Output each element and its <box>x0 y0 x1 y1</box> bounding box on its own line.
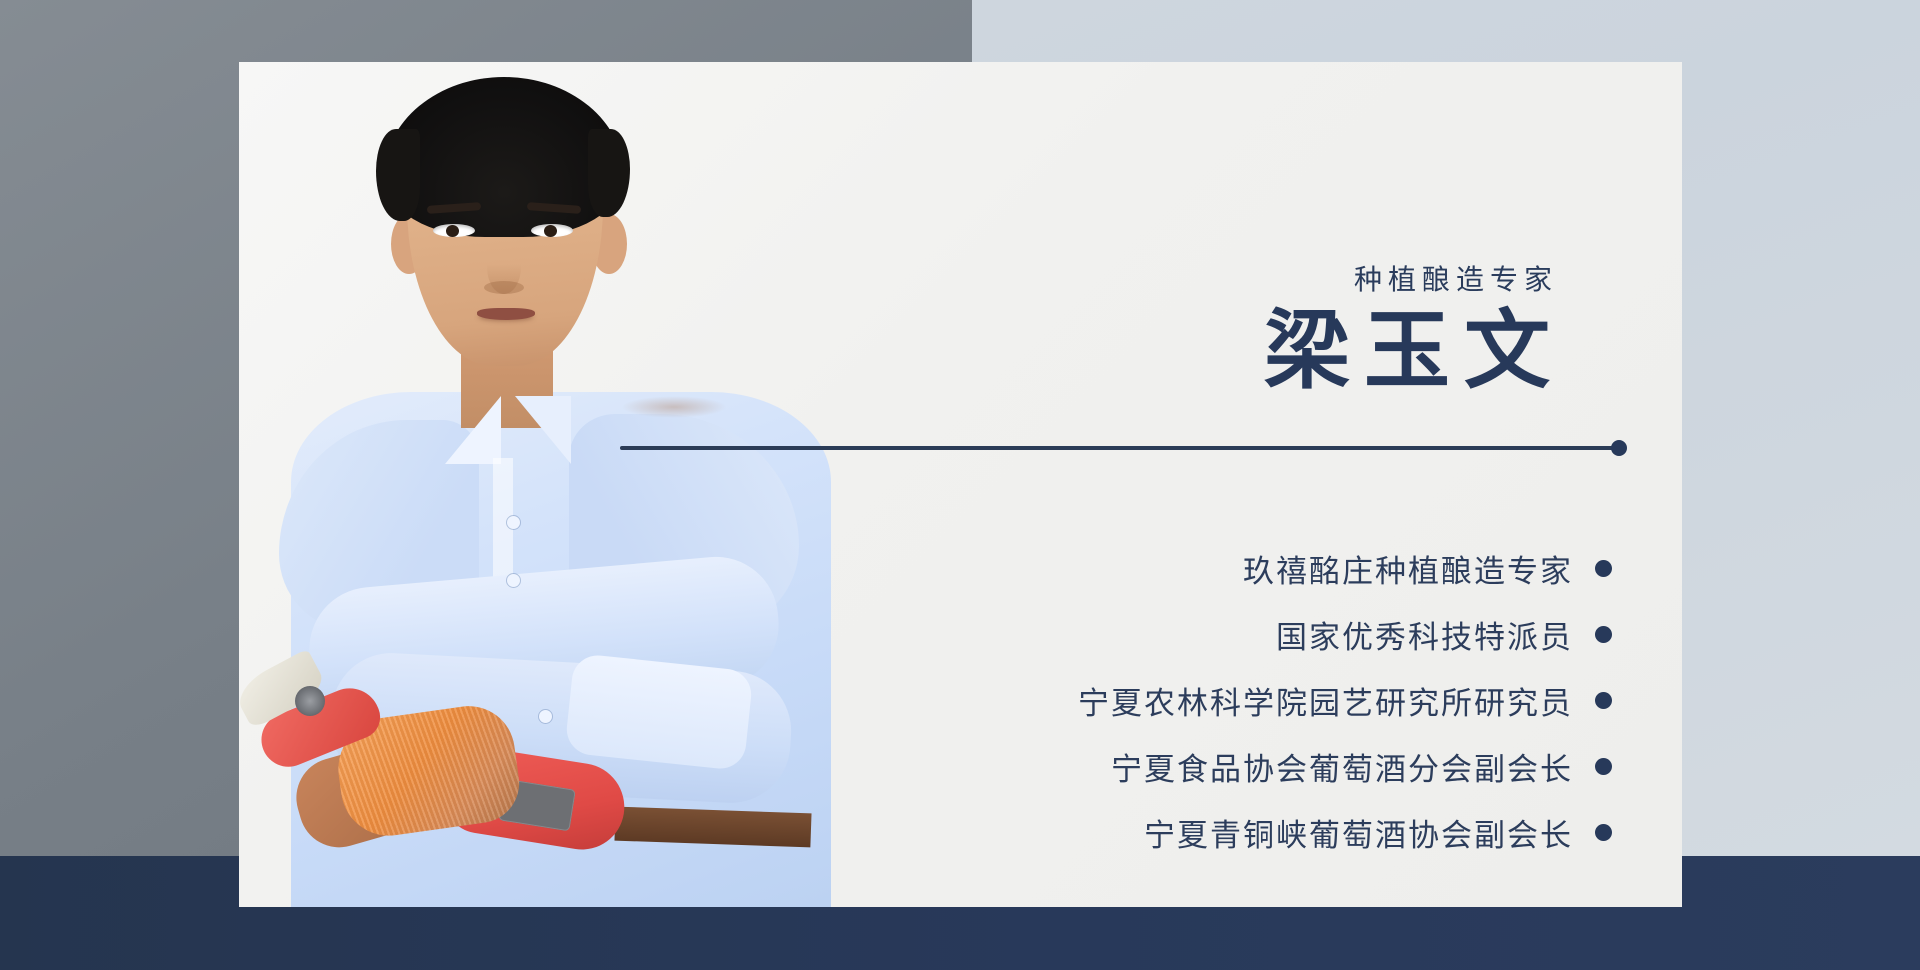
list-item: 宁夏农林科学院园艺研究所研究员 <box>1078 667 1612 733</box>
pruning-shears-pivot <box>295 686 325 716</box>
collar-right <box>515 396 571 464</box>
credential-label: 宁夏青铜峡葡萄酒协会副会长 <box>1144 810 1573 855</box>
hair <box>384 77 624 237</box>
belt <box>614 807 811 848</box>
bullet-dot-icon <box>1595 692 1612 709</box>
eye-left <box>433 224 475 237</box>
eye-right <box>531 224 573 237</box>
credential-list: 玖禧酩庄种植酿造专家 国家优秀科技特派员 宁夏农林科学院园艺研究所研究员 宁夏食… <box>1078 535 1612 865</box>
profile-card: 种植酿造专家 梁玉文 玖禧酩庄种植酿造专家 国家优秀科技特派员 宁夏农林科学院园… <box>239 62 1682 907</box>
portrait-image <box>239 62 849 907</box>
role-eyebrow: 种植酿造专家 <box>1354 258 1558 298</box>
credential-label: 国家优秀科技特派员 <box>1276 612 1573 657</box>
list-item: 宁夏青铜峡葡萄酒协会副会长 <box>1078 799 1612 865</box>
list-item: 国家优秀科技特派员 <box>1078 601 1612 667</box>
shirt-cuff <box>564 653 753 771</box>
credential-label: 宁夏农林科学院园艺研究所研究员 <box>1078 678 1573 723</box>
list-item: 玖禧酩庄种植酿造专家 <box>1078 535 1612 601</box>
poster-stage: 种植酿造专家 梁玉文 玖禧酩庄种植酿造专家 国家优秀科技特派员 宁夏农林科学院园… <box>0 0 1920 970</box>
collar-left <box>445 396 501 464</box>
shirt-button <box>507 574 520 587</box>
divider-end-dot <box>1611 440 1627 456</box>
expert-name: 梁玉文 <box>1264 308 1564 394</box>
chin-shadow <box>621 396 727 418</box>
credential-label: 玖禧酩庄种植酿造专家 <box>1243 546 1573 591</box>
divider-line <box>620 446 1622 450</box>
credential-label: 宁夏食品协会葡萄酒分会副会长 <box>1111 744 1573 789</box>
mouth <box>477 308 535 320</box>
nose <box>487 240 521 294</box>
bullet-dot-icon <box>1595 626 1612 643</box>
bullet-dot-icon <box>1595 560 1612 577</box>
list-item: 宁夏食品协会葡萄酒分会副会长 <box>1078 733 1612 799</box>
shirt-button <box>539 710 552 723</box>
bullet-dot-icon <box>1595 824 1612 841</box>
bullet-dot-icon <box>1595 758 1612 775</box>
portrait-figure <box>239 62 849 907</box>
shirt-button <box>507 516 520 529</box>
